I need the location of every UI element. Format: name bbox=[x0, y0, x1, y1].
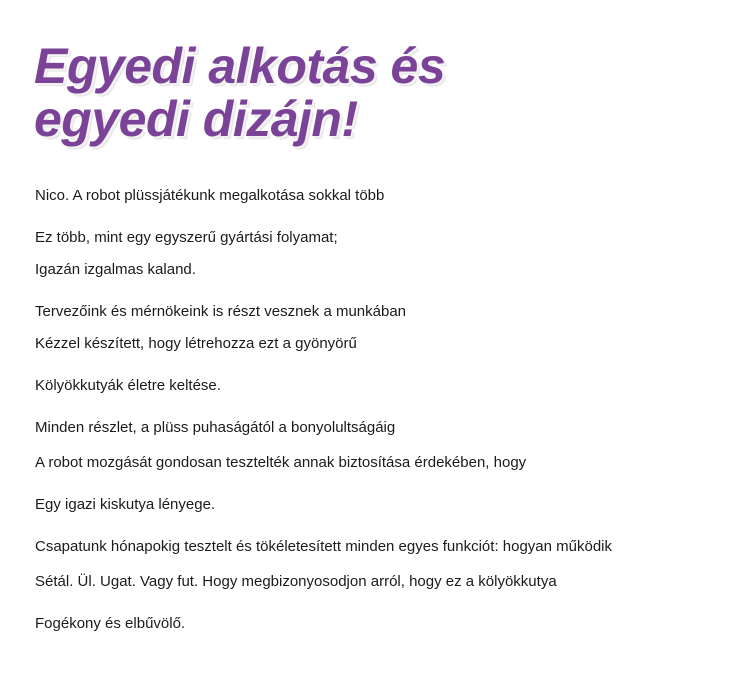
body-line: Nico. A robot plüssjátékunk megalkotása … bbox=[35, 186, 735, 206]
body-line: Sétál. Ül. Ugat. Vagy fut. Hogy megbizon… bbox=[35, 572, 735, 592]
body-line: Kölyökkutyák életre keltése. bbox=[35, 376, 735, 396]
body-line: Kézzel készített, hogy létrehozza ezt a … bbox=[35, 334, 735, 354]
body-line: A robot mozgását gondosan tesztelték ann… bbox=[35, 453, 735, 473]
body-line: Egy igazi kiskutya lényege. bbox=[35, 495, 735, 515]
body-copy: Nico. A robot plüssjátékunk megalkotása … bbox=[35, 186, 735, 634]
body-line: Csapatunk hónapokig tesztelt és tökélete… bbox=[35, 537, 735, 557]
body-line: Ez több, mint egy egyszerű gyártási foly… bbox=[35, 228, 735, 248]
body-line: Tervezőink és mérnökeink is részt veszne… bbox=[35, 302, 735, 322]
body-line: Igazán izgalmas kaland. bbox=[35, 260, 735, 280]
body-line: Fogékony és elbűvölő. bbox=[35, 614, 735, 634]
page-title: Egyedi alkotás és egyedi dizájn! bbox=[34, 40, 714, 146]
body-line: Minden részlet, a plüss puhaságától a bo… bbox=[35, 418, 735, 438]
promo-page: Egyedi alkotás és egyedi dizájn! Nico. A… bbox=[0, 0, 750, 673]
